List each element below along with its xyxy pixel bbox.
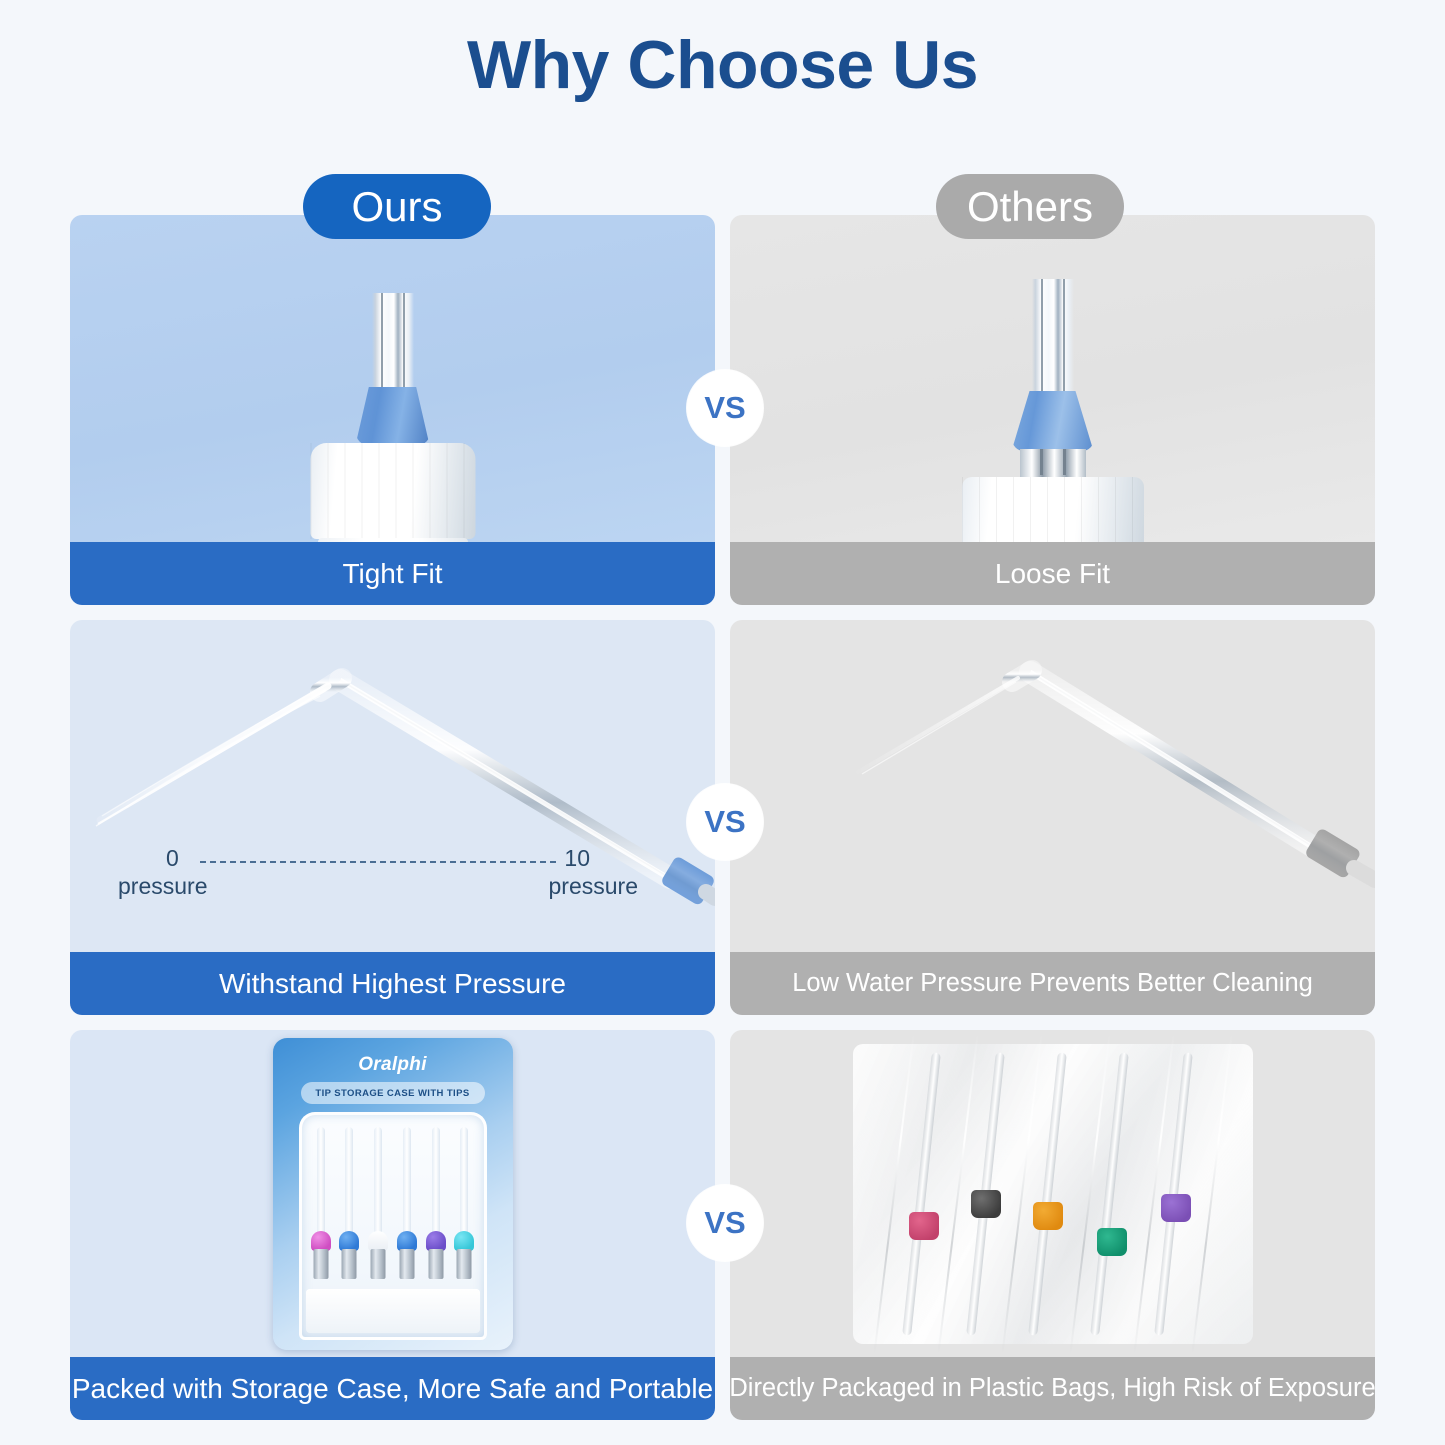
vs-badge-label: VS [704, 1205, 745, 1241]
nozzle-blue-collar [356, 387, 430, 445]
tip-rod [902, 1052, 941, 1335]
tip-row [310, 1127, 476, 1285]
tip-rod [374, 1127, 382, 1233]
list-item [396, 1127, 418, 1285]
flosser-handle-base [318, 538, 468, 542]
tip-rod [432, 1127, 440, 1233]
tip-color-cap [397, 1231, 417, 1251]
handle-ridges [962, 477, 1144, 542]
caption-tight-fit: Tight Fit [70, 542, 715, 605]
comparison-card-ours-pressure: 0 10 pressure pressure Withstand Highest… [70, 620, 715, 1015]
tip-color-cap [1161, 1194, 1191, 1222]
tip-color-cap [971, 1190, 1001, 1218]
list-item [367, 1127, 389, 1285]
list-item [338, 1127, 360, 1285]
nozzle-metal-shaft [372, 293, 414, 403]
tip-rod [317, 1127, 325, 1233]
package-subtitle-label: TIP STORAGE CASE WITH TIPS [301, 1082, 485, 1104]
caption-low-water-pressure: Low Water Pressure Prevents Better Clean… [730, 952, 1375, 1015]
tip-color-cap [1097, 1228, 1127, 1256]
list-item [310, 1127, 332, 1285]
retail-package: Oralphi TIP STORAGE CASE WITH TIPS [273, 1038, 513, 1350]
list-item [453, 1127, 475, 1285]
tip-rod [345, 1127, 353, 1233]
comparison-card-ours-fit: Tight Fit [70, 215, 715, 605]
handle-ridges [310, 443, 475, 539]
package-brand-label: Oralphi [273, 1054, 513, 1076]
tip-color-cap [454, 1231, 474, 1251]
pressure-scale-low-value: 0 [166, 845, 179, 872]
column-header-ours: Ours [303, 174, 491, 239]
tip-color-cap [1033, 1202, 1063, 1230]
tip-color-cap [368, 1231, 388, 1251]
pressure-scale-high-value: 10 [564, 845, 590, 872]
column-header-others-label: Others [967, 183, 1093, 231]
tip-rod [460, 1127, 468, 1233]
nozzle-metal-shaft [1032, 279, 1074, 407]
tip-color-cap [311, 1231, 331, 1251]
caption-withstand-highest-pressure: Withstand Highest Pressure [70, 952, 715, 1015]
tip-metal-body [342, 1249, 357, 1279]
water-jet-weak-svg [730, 620, 1375, 952]
vs-badge-row-1: VS [687, 370, 763, 446]
comparison-card-others-packaging: Directly Packaged in Plastic Bags, High … [730, 1030, 1375, 1420]
pressure-scale: 0 10 pressure pressure [118, 845, 638, 907]
comparison-card-others-fit: Loose Fit [730, 215, 1375, 605]
flosser-handle-top [310, 443, 475, 539]
tip-metal-body [428, 1249, 443, 1279]
tip-metal-body [457, 1249, 472, 1279]
tip-metal-body [399, 1249, 414, 1279]
tip-color-cap [339, 1231, 359, 1251]
product-image-water-jet-weak [730, 620, 1375, 952]
list-item [425, 1127, 447, 1285]
tip-metal-body [313, 1249, 328, 1279]
product-image-plastic-bag [730, 1030, 1375, 1357]
product-image-nozzle-tight-fit [70, 215, 715, 542]
product-image-nozzle-loose-fit [730, 215, 1375, 542]
column-header-ours-label: Ours [351, 183, 442, 231]
column-header-others: Others [936, 174, 1124, 239]
product-image-storage-case: Oralphi TIP STORAGE CASE WITH TIPS [70, 1030, 715, 1357]
comparison-card-ours-packaging: Oralphi TIP STORAGE CASE WITH TIPS [70, 1030, 715, 1420]
storage-case-base [306, 1289, 480, 1333]
pressure-scale-dashed-line [200, 861, 556, 863]
tip-metal-body [371, 1249, 386, 1279]
product-image-water-jet-strong: 0 10 pressure pressure [70, 620, 715, 952]
nozzle-blue-collar [1012, 391, 1094, 451]
nozzle-illustration-tight [293, 275, 493, 542]
caption-directly-packaged-plastic-bags: Directly Packaged in Plastic Bags, High … [730, 1357, 1375, 1420]
tip-color-cap [426, 1231, 446, 1251]
tip-rod [403, 1127, 411, 1233]
storage-case-tray [299, 1112, 487, 1340]
caption-packed-with-storage-case: Packed with Storage Case, More Safe and … [70, 1357, 715, 1420]
tip-rod [1090, 1052, 1129, 1335]
nozzle-illustration-loose [953, 261, 1153, 542]
vs-badge-label: VS [704, 804, 745, 840]
pressure-scale-low-label: pressure [118, 873, 207, 900]
flosser-handle-top [962, 477, 1144, 542]
plastic-bag [853, 1044, 1253, 1344]
bag-crease [1191, 1033, 1232, 1355]
vs-badge-row-2: VS [687, 784, 763, 860]
vs-badge-label: VS [704, 390, 745, 426]
pressure-scale-high-label: pressure [549, 873, 638, 900]
exposed-metal-gap [1020, 449, 1086, 479]
comparison-card-others-pressure: Low Water Pressure Prevents Better Clean… [730, 620, 1375, 1015]
tip-color-cap [909, 1212, 939, 1240]
caption-loose-fit: Loose Fit [730, 542, 1375, 605]
vs-badge-row-3: VS [687, 1185, 763, 1261]
